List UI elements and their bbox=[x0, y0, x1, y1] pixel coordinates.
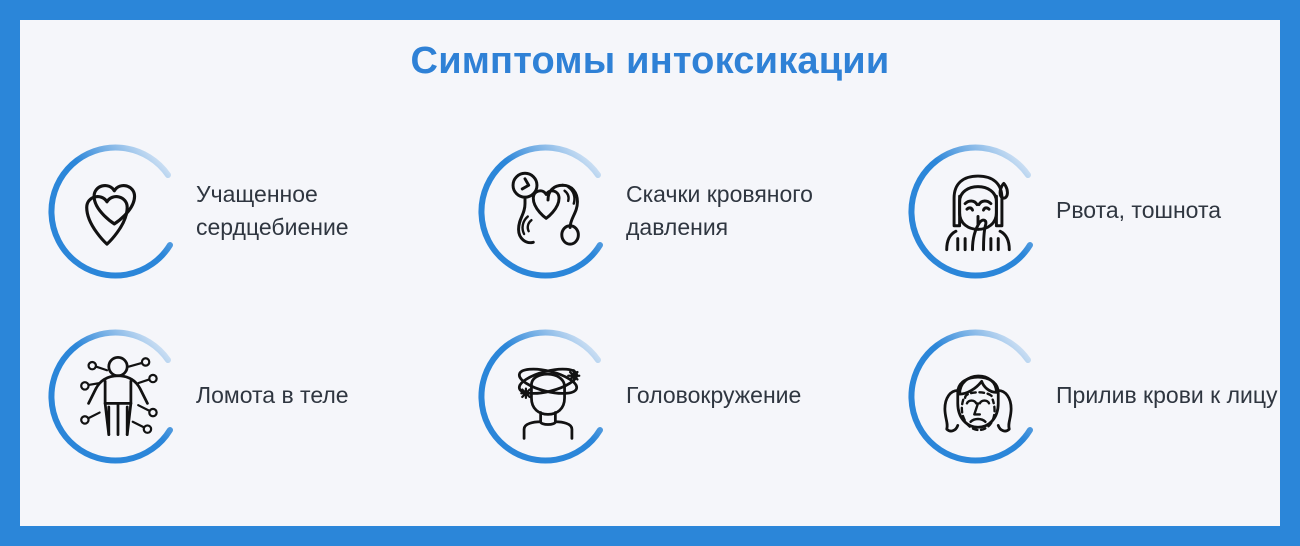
symptom-item-facial-flush: Прилив крови к лицу bbox=[908, 303, 1288, 488]
symptom-label: Рвота, тошнота bbox=[1056, 194, 1221, 227]
symptom-item-tachycardia: Учащенное сердцебиение bbox=[48, 118, 478, 303]
symptom-label: Скачки кровяного давления bbox=[626, 178, 896, 243]
flushed-face-icon bbox=[932, 350, 1024, 442]
content-panel: Симптомы интоксикации bbox=[20, 20, 1280, 526]
symptom-badge bbox=[478, 326, 618, 466]
symptoms-grid: Учащенное сердцебиение bbox=[48, 118, 1270, 488]
symptom-badge bbox=[48, 141, 188, 281]
blood-pressure-monitor-icon bbox=[502, 165, 594, 257]
symptom-label: Головокружение bbox=[626, 379, 801, 412]
symptom-item-body-ache: Ломота в теле bbox=[48, 303, 478, 488]
symptom-item-dizziness: Головокружение bbox=[478, 303, 908, 488]
symptom-item-vomiting: Рвота, тошнота bbox=[908, 118, 1288, 303]
page-title: Симптомы интоксикации bbox=[20, 40, 1280, 83]
symptom-badge bbox=[908, 326, 1048, 466]
double-heart-icon bbox=[72, 165, 164, 257]
symptom-label: Ломота в теле bbox=[196, 379, 349, 412]
symptom-badge bbox=[908, 141, 1048, 281]
symptom-badge bbox=[478, 141, 618, 281]
symptom-item-blood-pressure: Скачки кровяного давления bbox=[478, 118, 908, 303]
dizzy-head-icon bbox=[502, 350, 594, 442]
symptom-label: Учащенное сердцебиение bbox=[196, 178, 466, 243]
body-pain-points-icon bbox=[72, 350, 164, 442]
nausea-person-icon bbox=[932, 165, 1024, 257]
symptom-badge bbox=[48, 326, 188, 466]
symptom-label: Прилив крови к лицу bbox=[1056, 379, 1278, 412]
infographic-frame: Симптомы интоксикации bbox=[0, 0, 1300, 546]
